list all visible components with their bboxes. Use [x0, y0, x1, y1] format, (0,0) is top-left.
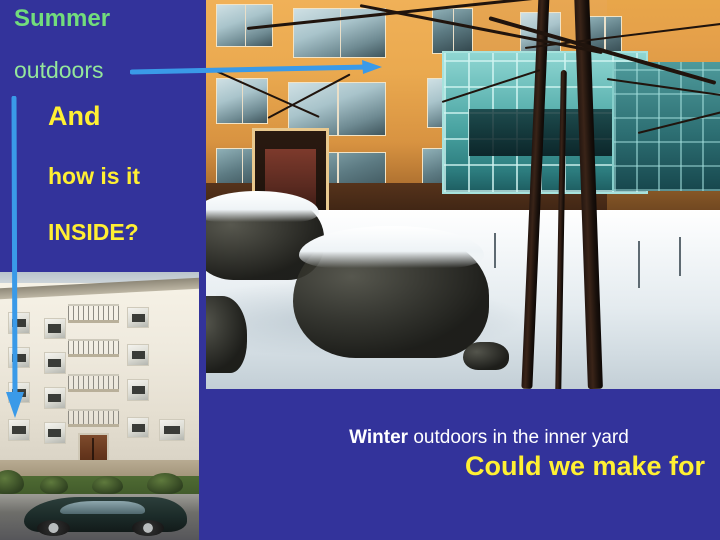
car-wheel: [37, 520, 70, 536]
winter-window: [432, 8, 473, 55]
presentation-slide: Summer outdoors And how is it INSIDE? Wi…: [0, 0, 720, 540]
summer-balcony: [68, 409, 120, 427]
summer-window: [127, 379, 149, 400]
summer-building-photo: [0, 272, 199, 540]
winter-post: [494, 233, 496, 268]
caption-could-we-make-for: Could we make for: [465, 450, 715, 483]
summer-parked-car: [24, 497, 187, 532]
caption-how-is-it: how is it: [48, 163, 140, 190]
caption-and: And: [48, 101, 100, 132]
summer-window: [159, 419, 185, 440]
summer-window: [44, 422, 66, 443]
summer-bush: [40, 476, 68, 495]
winter-post: [638, 241, 640, 288]
arrow-down-to-building-icon: [2, 96, 28, 418]
slide-title-summer: Summer: [14, 5, 110, 33]
caption-winter-bold-word: Winter: [349, 427, 408, 448]
summer-bush: [147, 473, 183, 494]
caption-winter-rest: outdoors in the inner yard: [408, 427, 629, 448]
summer-balcony: [68, 304, 120, 322]
car-wheel: [132, 520, 165, 536]
summer-window: [8, 419, 30, 440]
car-windshield: [60, 501, 145, 514]
caption-inside-question: INSIDE?: [48, 219, 139, 246]
summer-window: [44, 318, 66, 339]
summer-bush: [92, 476, 124, 495]
conservatory-dark-glazing: [469, 109, 622, 157]
summer-balcony: [68, 339, 120, 357]
summer-window: [127, 307, 149, 328]
summer-window: [127, 344, 149, 365]
summer-window: [44, 387, 66, 408]
winter-window: [216, 78, 267, 125]
arrow-right-to-window-icon: [130, 58, 382, 80]
summer-window: [127, 417, 149, 438]
slide-title-outdoors: outdoors: [14, 57, 104, 84]
winter-post: [679, 237, 681, 276]
summer-window: [44, 352, 66, 373]
winter-yard-object: [463, 342, 509, 369]
summer-balcony: [68, 374, 120, 392]
